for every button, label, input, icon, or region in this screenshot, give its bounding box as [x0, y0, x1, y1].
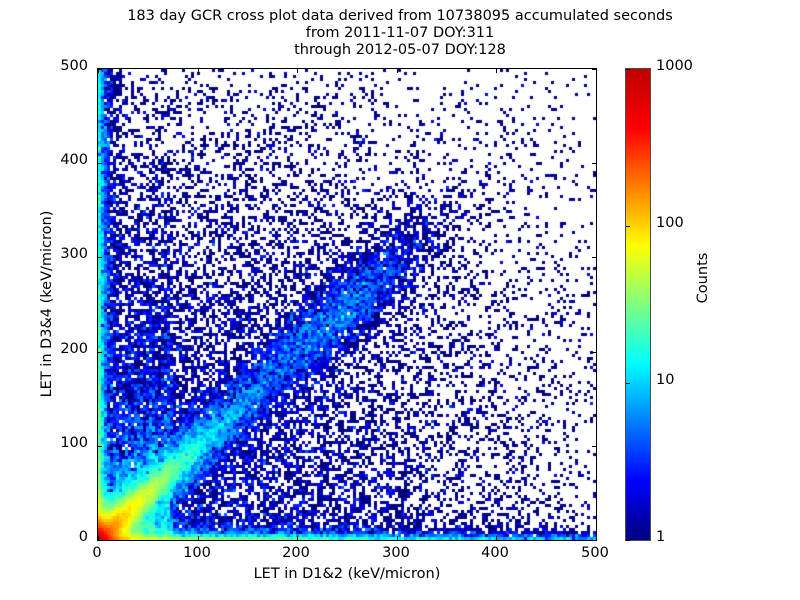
y-tick-0 [98, 540, 102, 541]
colorbar-title: Counts [695, 208, 711, 348]
x-tick-300 [397, 536, 398, 540]
x-tick-400 [496, 536, 497, 540]
x-tick-label-500: 500 [560, 545, 630, 561]
y-axis-label: LET in D3&4 (keV/micron) [39, 149, 55, 459]
colorbar [625, 68, 651, 541]
y-tick-500 [98, 69, 102, 70]
x-tick-100 [198, 69, 199, 73]
y-tick-100 [592, 446, 596, 447]
x-tick-500 [596, 536, 597, 540]
colorbar-tick-1000 [626, 69, 630, 70]
chart-title-line-2: from 2011-11-07 DOY:311 [0, 25, 800, 42]
y-tick-500 [592, 69, 596, 70]
chart-title-line-3: through 2012-05-07 DOY:128 [0, 42, 800, 59]
x-tick-200 [297, 536, 298, 540]
plot-area [97, 68, 597, 541]
heatmap-canvas [98, 69, 596, 540]
chart-title: 183 day GCR cross plot data derived from… [0, 8, 800, 59]
y-tick-300 [592, 257, 596, 258]
y-tick-200 [98, 352, 102, 353]
x-tick-label-200: 200 [261, 545, 331, 561]
x-tick-label-300: 300 [361, 545, 431, 561]
colorbar-gradient [626, 69, 650, 540]
y-tick-label-500: 500 [32, 58, 88, 74]
chart-title-line-1: 183 day GCR cross plot data derived from… [0, 8, 800, 25]
colorbar-tick-100 [626, 226, 630, 227]
colorbar-tick-10 [626, 383, 630, 384]
y-tick-0 [592, 540, 596, 541]
x-tick-label-400: 400 [460, 545, 530, 561]
colorbar-tick-label-100: 100 [656, 215, 684, 231]
x-tick-label-100: 100 [162, 545, 232, 561]
y-tick-400 [98, 163, 102, 164]
x-tick-200 [297, 69, 298, 73]
y-tick-300 [98, 257, 102, 258]
x-tick-label-0: 0 [62, 545, 132, 561]
y-tick-200 [592, 352, 596, 353]
x-tick-500 [596, 69, 597, 73]
y-tick-100 [98, 446, 102, 447]
y-tick-400 [592, 163, 596, 164]
colorbar-tick-1 [626, 540, 630, 541]
colorbar-tick-label-10: 10 [656, 372, 674, 388]
x-tick-400 [496, 69, 497, 73]
x-tick-300 [397, 69, 398, 73]
colorbar-tick-label-1: 1 [656, 529, 665, 545]
chart-page: 183 day GCR cross plot data derived from… [0, 0, 800, 600]
colorbar-tick-label-1000: 1000 [656, 58, 693, 74]
x-axis-label: LET in D1&2 (keV/micron) [97, 566, 597, 582]
x-tick-100 [198, 536, 199, 540]
y-tick-label-0: 0 [32, 529, 88, 545]
